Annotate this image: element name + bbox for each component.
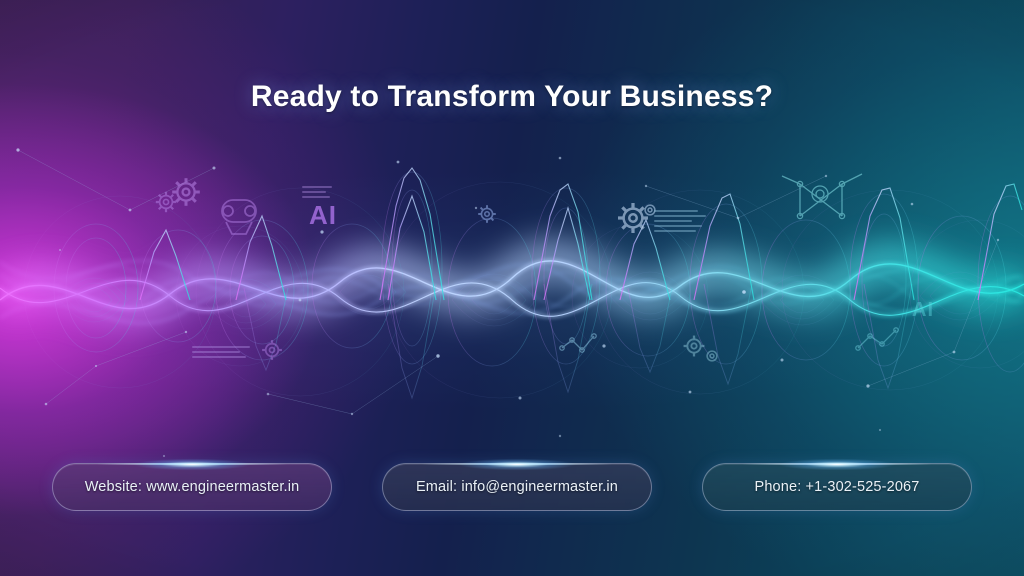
decor-microtext (192, 186, 332, 358)
decor-molecule-node-icon (782, 174, 862, 219)
decor-gear-icon-lower (262, 336, 717, 361)
decor-line-chart-icon (560, 334, 596, 352)
decor-microtext-right (654, 210, 706, 232)
decor-ai-label-left: AI (309, 200, 337, 230)
decor-gear-icon-left (156, 178, 200, 212)
contact-pill-website[interactable]: Website: www.engineermaster.in (52, 463, 332, 511)
decor-ai-label-right: AI (912, 299, 934, 321)
contact-website-label: Website: www.engineermaster.in (85, 479, 300, 495)
contact-phone-label: Phone: +1-302-525-2067 (755, 479, 920, 495)
center-glow-band (0, 150, 1024, 430)
contact-pill-row: Website: www.engineermaster.in Email: in… (52, 463, 972, 511)
contact-pill-email[interactable]: Email: info@engineermaster.in (382, 463, 652, 511)
decor-gear-icon-mid (478, 205, 496, 223)
decor-line-chart-icon-2 (856, 328, 898, 350)
decor-gear-icon-right (618, 203, 655, 233)
cta-slide: AI AI Ready to Transform Your Business? … (0, 0, 1024, 576)
contact-email-label: Email: info@engineermaster.in (416, 479, 618, 495)
contact-pill-phone[interactable]: Phone: +1-302-525-2067 (702, 463, 972, 511)
decor-network-node-icon (222, 200, 256, 234)
page-title: Ready to Transform Your Business? (0, 80, 1024, 114)
